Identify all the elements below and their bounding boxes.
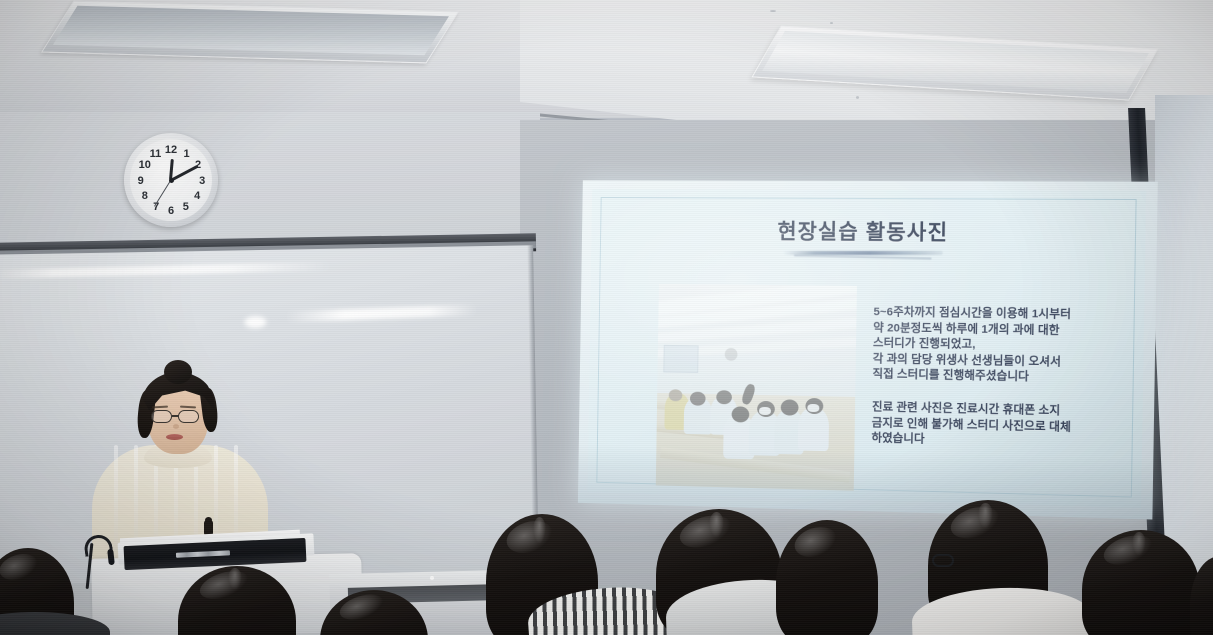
presenter-glasses-left-lens xyxy=(151,410,172,423)
clock-center-pin xyxy=(169,178,174,183)
clock-number: 8 xyxy=(138,189,152,203)
ceiling-light-panel-left xyxy=(41,1,459,64)
control-panel-buttons[interactable] xyxy=(176,550,230,557)
gooseneck-microphone xyxy=(70,533,116,589)
audience-member-8 xyxy=(1082,530,1200,635)
presenter-glasses-bridge xyxy=(172,415,179,417)
slide-title: 현장실습 활동사진 xyxy=(591,215,1145,249)
audience-member-6 xyxy=(776,520,878,635)
audience-member-3 xyxy=(320,590,428,635)
wall-clock: 12 1 2 3 4 5 6 7 8 9 10 11 xyxy=(124,133,218,227)
audience-member-7-glasses xyxy=(932,554,954,567)
clock-minute-hand xyxy=(170,165,198,181)
presentation-slide: 현장실습 활동사진 xyxy=(588,189,1147,508)
audience-member-9 xyxy=(1190,556,1213,635)
presenter-glasses-right-lens xyxy=(178,410,199,423)
slide-body-paragraph-1: 5~6주차까지 점심시간을 이용해 1시부터 약 20분정도씩 하루에 1개의 … xyxy=(872,305,1118,388)
clock-number: 11 xyxy=(148,147,162,161)
clock-number: 2 xyxy=(191,158,205,172)
projection-screen: 현장실습 활동사진 xyxy=(578,180,1158,519)
desk-marker-dot xyxy=(430,576,434,580)
audience-member-2 xyxy=(178,566,296,635)
presenter-hair-bun xyxy=(164,360,192,384)
clock-number: 5 xyxy=(179,200,193,214)
clock-number: 9 xyxy=(134,174,148,188)
clock-number: 6 xyxy=(164,204,178,218)
slide-photo-lecture-hall xyxy=(656,284,857,491)
presenter-nose xyxy=(173,424,179,429)
presenter-mouth xyxy=(166,434,183,440)
classroom-presentation-scene: 12 1 2 3 4 5 6 7 8 9 10 11 현장실습 활동사진 xyxy=(0,0,1213,635)
slide-body-paragraph-2: 진료 관련 사진은 진료시간 휴대폰 소지 금지로 인해 불가해 스터디 사진으… xyxy=(871,400,1116,453)
clock-number: 12 xyxy=(164,143,178,157)
clock-face: 12 1 2 3 4 5 6 7 8 9 10 11 xyxy=(130,139,212,221)
clock-number: 3 xyxy=(195,174,209,188)
